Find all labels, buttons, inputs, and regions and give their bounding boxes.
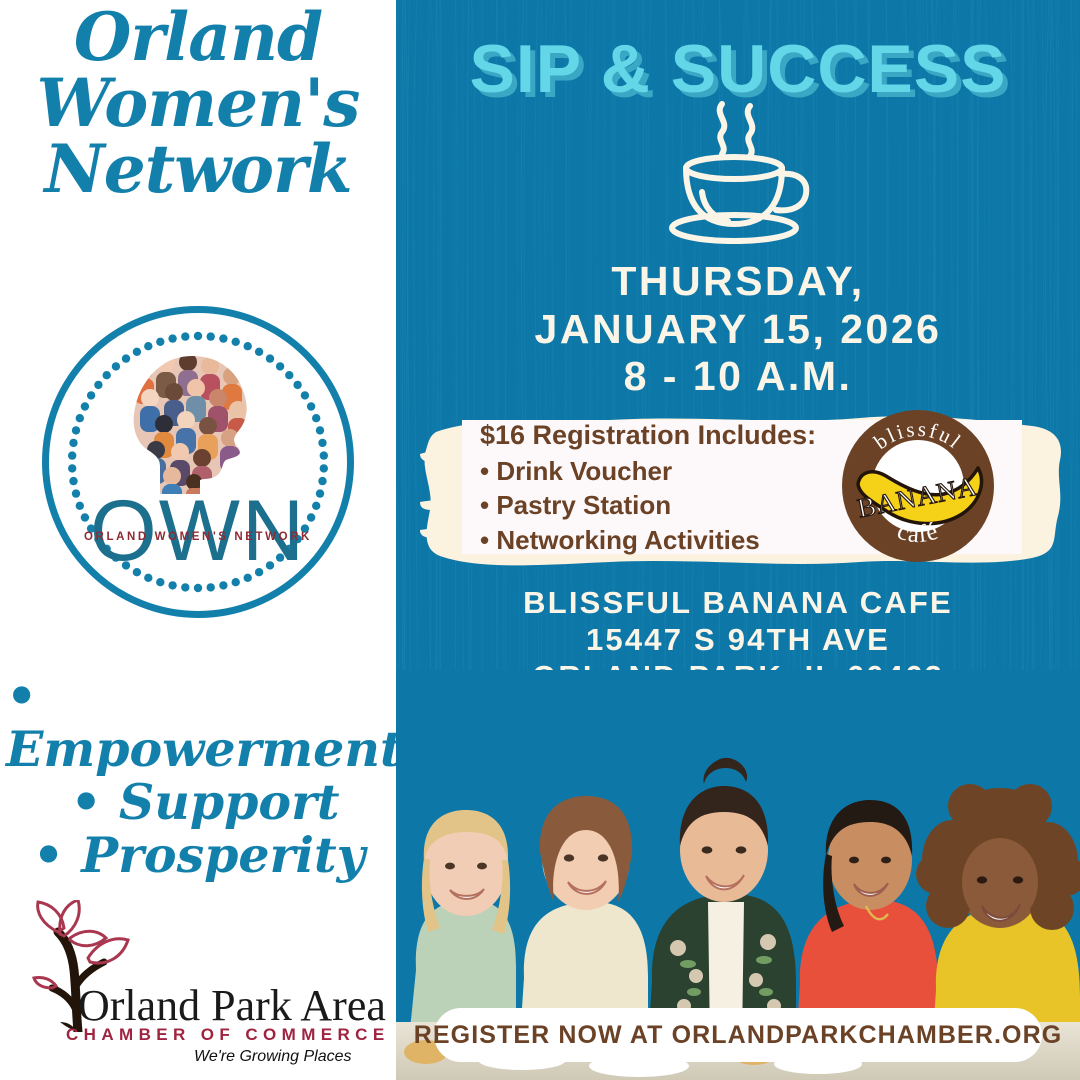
- blissful-banana-cafe-logo: blissful café BANANA: [838, 406, 998, 566]
- coffee-cup-icon: [658, 100, 818, 250]
- event-datetime: THURSDAY, JANUARY 15, 2026 8 - 10 A.M.: [396, 258, 1080, 401]
- registration-details: $16 Registration Includes: • Drink Vouch…: [480, 418, 880, 558]
- date-line-1: THURSDAY,: [396, 258, 1080, 306]
- right-panel: SIP & SUCCESS THURSDAY, JANUARY 15, 2026…: [396, 0, 1080, 1080]
- chamber-logo: Orland Park Area CHAMBER OF COMMERCE We'…: [26, 898, 386, 1070]
- left-panel: Orland Women's Network: [0, 0, 396, 1080]
- register-cta-button[interactable]: REGISTER NOW AT ORLANDPARKCHAMBER.ORG: [434, 1008, 1042, 1062]
- venue-name: BLISSFUL BANANA CAFE: [396, 584, 1080, 621]
- org-title-line-1: Orland: [0, 6, 396, 68]
- event-headline: SIP & SUCCESS: [396, 30, 1080, 108]
- chamber-subtitle: CHAMBER OF COMMERCE: [66, 1025, 386, 1045]
- date-line-3: 8 - 10 A.M.: [396, 353, 1080, 401]
- venue-street: 15447 S 94TH AVE: [396, 621, 1080, 658]
- tagline-empowerment: • Empowerment: [0, 670, 396, 776]
- registration-item-drink-voucher: • Drink Voucher: [480, 454, 880, 489]
- tagline-prosperity: • Prosperity: [0, 829, 396, 882]
- org-title-line-3: Network: [0, 138, 396, 200]
- organization-title: Orland Women's Network: [0, 6, 396, 200]
- svg-text:café: café: [894, 517, 942, 548]
- own-logo: OWN ORLAND WOMEN'S NETWORK: [42, 306, 354, 618]
- registration-item-pastry-station: • Pastry Station: [480, 488, 880, 523]
- chamber-name: Orland Park Area: [78, 980, 388, 1031]
- event-flyer: Orland Women's Network: [0, 0, 1080, 1080]
- org-title-line-2: Women's: [0, 72, 396, 134]
- date-line-2: JANUARY 15, 2026: [396, 306, 1080, 354]
- registration-item-networking-activities: • Networking Activities: [480, 523, 880, 558]
- tagline-support: • Support: [0, 776, 396, 829]
- register-cta-label: REGISTER NOW AT ORLANDPARKCHAMBER.ORG: [414, 1021, 1063, 1050]
- own-logo-subtitle: ORLAND WOMEN'S NETWORK: [42, 531, 354, 543]
- registration-heading: $16 Registration Includes:: [480, 418, 880, 454]
- cafe-logo-bottom-text: café: [894, 517, 942, 548]
- taglines-list: • Empowerment • Support • Prosperity: [0, 670, 396, 882]
- registration-panel: $16 Registration Includes: • Drink Vouch…: [420, 398, 1065, 576]
- woman-head-silhouette-icon: [130, 354, 256, 494]
- chamber-tagline: We're Growing Places: [194, 1048, 351, 1066]
